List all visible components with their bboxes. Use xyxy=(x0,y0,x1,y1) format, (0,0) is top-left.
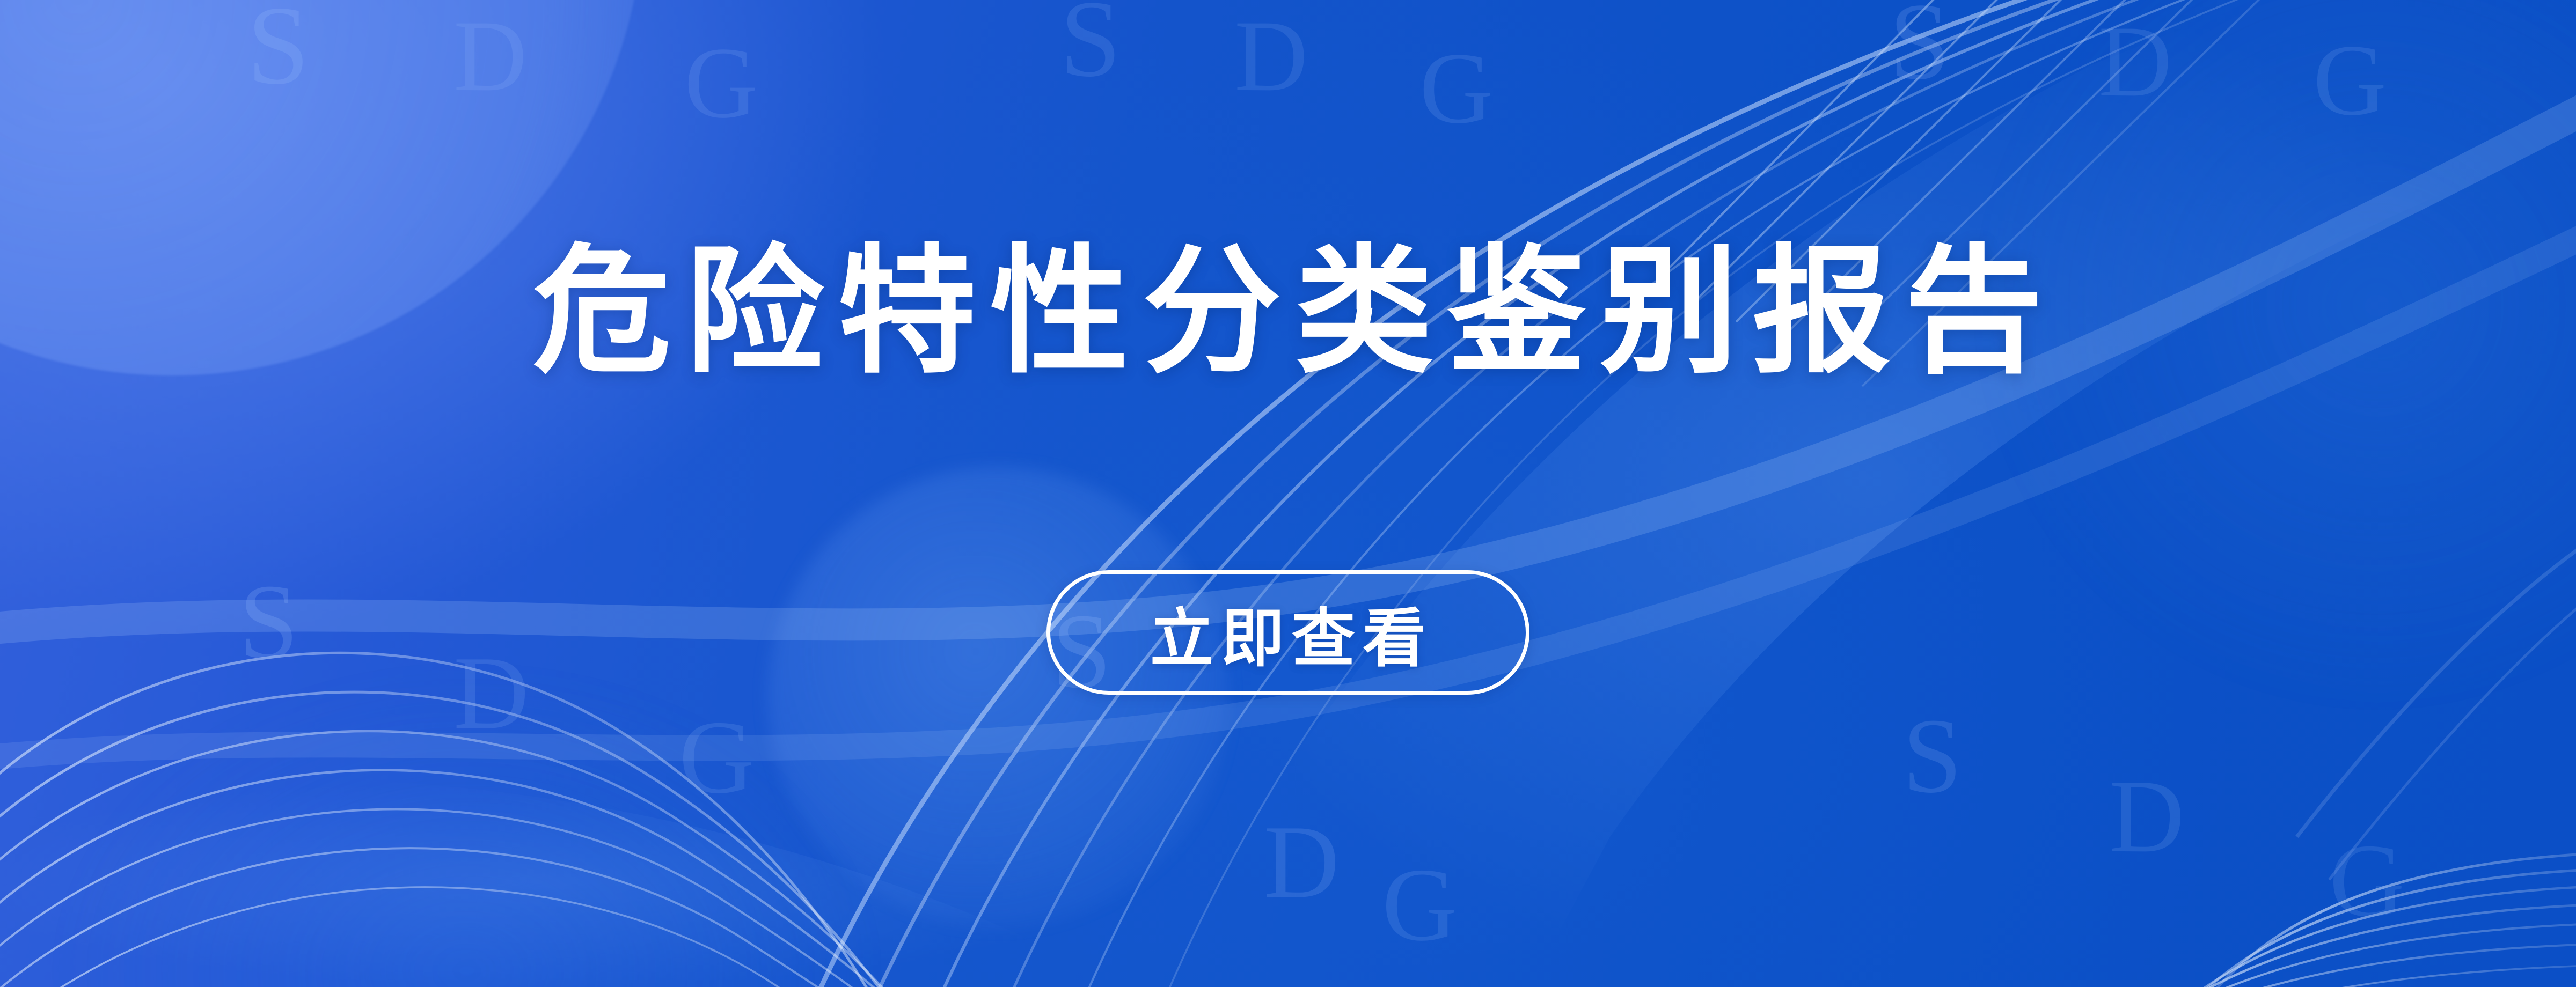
view-now-button-label: 立即查看 xyxy=(1143,587,1433,679)
faint-arc-right xyxy=(2297,515,2576,880)
watermark-letter-d: D xyxy=(2109,764,2185,869)
watermark-letter-g: G xyxy=(684,32,758,134)
watermark-letter-g: G xyxy=(1382,853,1458,957)
watermark-letter-g: G xyxy=(679,705,755,810)
watermark-letter-g: G xyxy=(2313,30,2387,131)
decorative-lines-svg xyxy=(0,0,2576,987)
watermark-letter-d: D xyxy=(1264,810,1340,915)
watermark-letter-d: D xyxy=(453,5,527,107)
cta-wrap: 立即查看 xyxy=(0,570,2576,695)
watermark-letter-g: G xyxy=(2329,829,2405,933)
soft-swoosh-band xyxy=(0,0,2576,987)
center-circle-glow xyxy=(767,467,1229,928)
hero-banner: SDGSDGSDGSDGSDGSDG 危险特性分类鉴别报告 立即查看 xyxy=(0,0,2576,987)
background-decoration: SDGSDGSDGSDGSDGSDG xyxy=(0,0,2576,987)
watermark-letter-s: S xyxy=(247,0,310,102)
page-title-wrap: 危险特性分类鉴别报告 xyxy=(0,239,2576,385)
watermark-letter-d: D xyxy=(1234,5,1308,107)
watermark-letter-s: S xyxy=(1060,0,1121,94)
arcs-bottom-left xyxy=(0,653,1159,987)
watermark-letter-s: S xyxy=(1889,0,1950,97)
arcs-bottom-right xyxy=(1935,852,2576,987)
watermark-letter-d: D xyxy=(2098,11,2172,113)
view-now-button[interactable]: 立即查看 xyxy=(1046,570,1529,695)
bottom-left-glow xyxy=(64,676,869,987)
watermark-letter-s: S xyxy=(1902,703,1962,810)
flow-curves xyxy=(821,0,2576,987)
watermark-letter-g: G xyxy=(1419,38,1493,139)
page-title: 危险特性分类鉴别报告 xyxy=(519,239,2057,385)
